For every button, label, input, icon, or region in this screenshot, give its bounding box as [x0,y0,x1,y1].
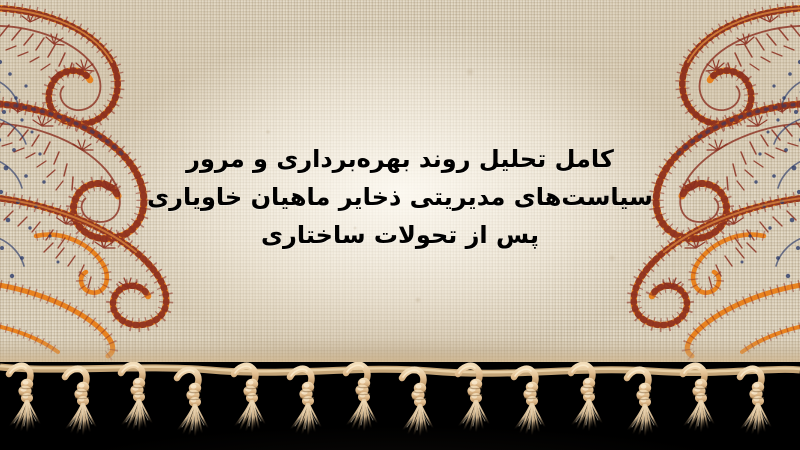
title-line-2: سیاست‌های مدیریتی ذخایر ماهیان خاویاری [0,178,800,216]
tassel-row [9,365,771,436]
embroidery-corner-left [0,0,296,372]
title-card-scene: کامل تحلیل روند بهره‌برداری و مرور سیاست… [0,0,800,450]
paisley-motif-group [634,8,800,356]
title-line-3: پس از تحولات ساختاری [0,216,800,254]
fabric-stain-texture [0,0,800,372]
knotted-tassel-fringe [0,362,800,450]
page-title: کامل تحلیل روند بهره‌برداری و مرور سیاست… [0,140,800,254]
title-line-1: کامل تحلیل روند بهره‌برداری و مرور [0,140,800,178]
paisley-motif-group [0,8,166,356]
embroidery-corner-right [504,0,800,372]
embroidered-fabric-panel: کامل تحلیل روند بهره‌برداری و مرور سیاست… [0,0,800,372]
